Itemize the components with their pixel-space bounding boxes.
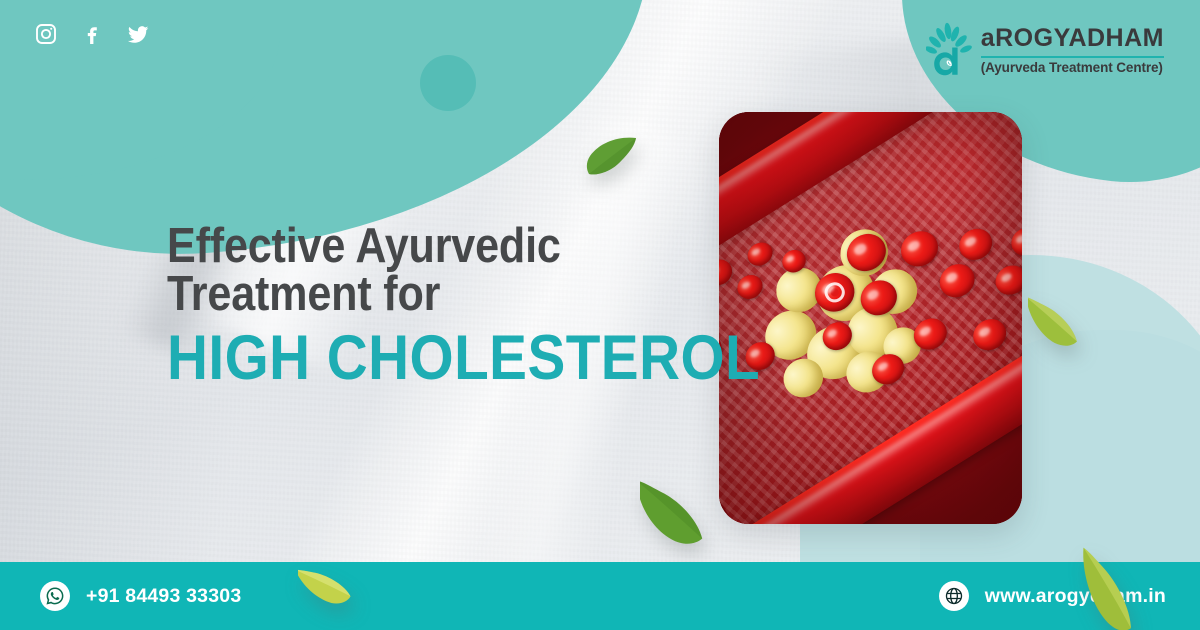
leaf-green-top (586, 136, 638, 182)
blood-vessel-cholesterol-image (719, 112, 1022, 524)
brand-logo[interactable]: aROGYADHAM (Ayurveda Treatment Centre) (926, 22, 1164, 78)
logo-name: aROGYADHAM (981, 26, 1164, 54)
headline-line-1: Effective Ayurvedic (167, 222, 660, 270)
whatsapp-icon (40, 581, 70, 611)
leaf-yellow-footer-left (298, 538, 360, 606)
instagram-icon[interactable] (34, 22, 58, 46)
footer-phone-number: +91 84493 33303 (86, 585, 241, 608)
twitter-icon[interactable] (126, 22, 150, 46)
logo-tagline: (Ayurveda Treatment Centre) (981, 61, 1163, 75)
headline-emphasis: HIGH CHOLESTEROL (167, 326, 671, 390)
logo-divider (981, 56, 1164, 58)
globe-icon (939, 581, 969, 611)
leaf-green-mid (640, 450, 724, 546)
leaf-yellow-footer-right (1080, 534, 1156, 630)
headline-block: Effective Ayurvedic Treatment for HIGH C… (167, 222, 727, 390)
logo-wordmark: aROGYADHAM (Ayurveda Treatment Centre) (981, 26, 1164, 75)
footer-bar: +91 84493 33303 www.arogydham.in (0, 562, 1200, 630)
social-links (34, 22, 150, 46)
leaf-tree-a-icon (926, 22, 972, 78)
banner-root: aROGYADHAM (Ayurveda Treatment Centre) E… (0, 0, 1200, 630)
artery-cross-section (719, 112, 1022, 524)
footer-phone[interactable]: +91 84493 33303 (40, 562, 241, 630)
leaf-yellow-green-right (1028, 274, 1090, 346)
facebook-icon[interactable] (80, 22, 104, 46)
teal-circle-accent (420, 55, 476, 111)
headline-line-2: Treatment for (167, 270, 660, 318)
